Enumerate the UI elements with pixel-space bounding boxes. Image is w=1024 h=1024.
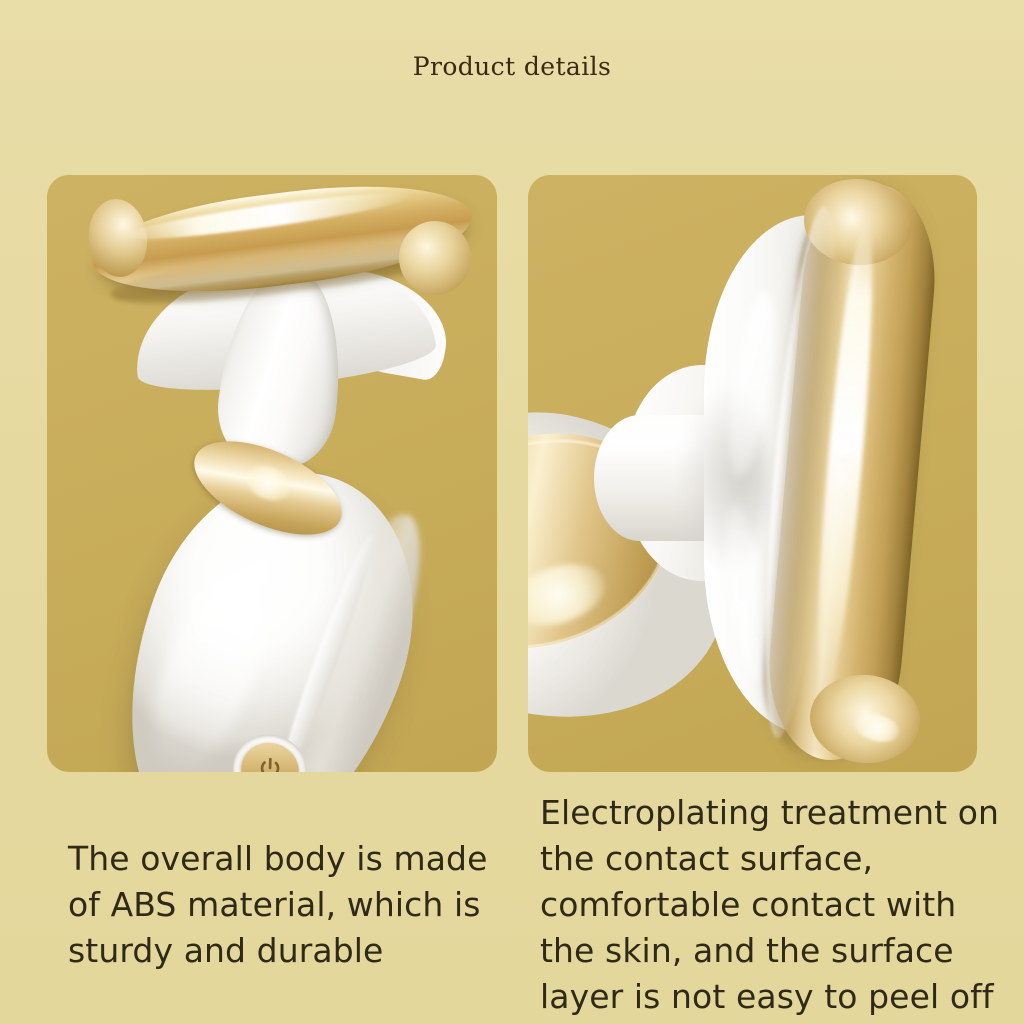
caption-right: Electroplating treatment on the contact … xyxy=(540,790,1010,1020)
caption-left: The overall body is made of ABS material… xyxy=(68,836,508,974)
power-icon xyxy=(254,754,285,772)
product-image-panel-right[interactable] xyxy=(528,175,977,772)
product-details-page: Product details xyxy=(0,0,1024,1024)
device-illustration-closeup xyxy=(528,175,977,772)
device-illustration-front xyxy=(47,175,497,772)
page-title: Product details xyxy=(0,52,1024,81)
product-image-panel-left[interactable] xyxy=(47,175,497,772)
